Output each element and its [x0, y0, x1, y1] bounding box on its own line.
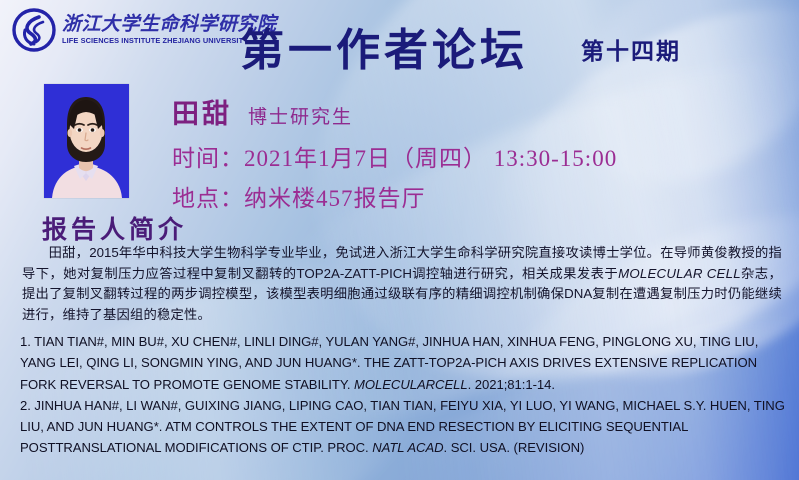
- page-title: 第一作者论坛: [240, 14, 528, 78]
- list-item: 2. JINHUA HAN#, LI WAN#, GUIXING JIANG, …: [20, 395, 788, 459]
- list-item: 1. TIAN TIAN#, MIN BU#, XU CHEN#, LINLI …: [20, 331, 788, 395]
- event-location: 地点：纳米楼457报告厅: [172, 179, 617, 213]
- bio-text-1: 田甜，: [49, 245, 90, 260]
- page-subtitle: 第十四期: [581, 32, 681, 66]
- institution-logo: 浙江大学生命科学研究院 LIFE SCIENCES INSTITUTE ZHEJ…: [12, 8, 277, 52]
- bio-journal-name: MOLECULAR CELL: [618, 266, 741, 281]
- pub-journal: MOLECULARCELL: [354, 377, 468, 392]
- speaker-info: 田甜 博士研究生 时间：2021年1月7日（周四） 13:30-15:00 地点…: [172, 92, 617, 219]
- speaker-photo: [44, 84, 129, 198]
- bio-year: 2015: [89, 245, 119, 260]
- swirl-wave-logo-icon: [12, 8, 56, 52]
- bio-dna-term: DNA: [564, 286, 592, 301]
- pub-index: 2.: [20, 398, 31, 413]
- pub-text-after: . 2021;81:1-14.: [468, 377, 555, 392]
- speaker-name: 田甜: [172, 92, 232, 131]
- pub-index: 1.: [20, 334, 31, 349]
- pub-journal: NATL ACAD: [372, 440, 443, 455]
- pub-text-after: . SCI. USA. (REVISION): [444, 440, 585, 455]
- bio-text-3: 调控轴进行研究，相关成果发表于: [412, 266, 618, 281]
- bio-paragraph: 田甜，2015年华中科技大学生物科学专业毕业，免试进入浙江大学生命科学研究院直接…: [22, 243, 782, 325]
- publication-list: 1. TIAN TIAN#, MIN BU#, XU CHEN#, LINLI …: [20, 331, 788, 459]
- event-time: 时间：2021年1月7日（周四） 13:30-15:00: [172, 139, 617, 173]
- speaker-role: 博士研究生: [248, 102, 353, 129]
- bio-heading: 报告人简介: [42, 210, 187, 246]
- seminar-poster: 浙江大学生命科学研究院 LIFE SCIENCES INSTITUTE ZHEJ…: [0, 0, 799, 480]
- bio-axis-term: TOP2A-ZATT-PICH: [296, 266, 412, 281]
